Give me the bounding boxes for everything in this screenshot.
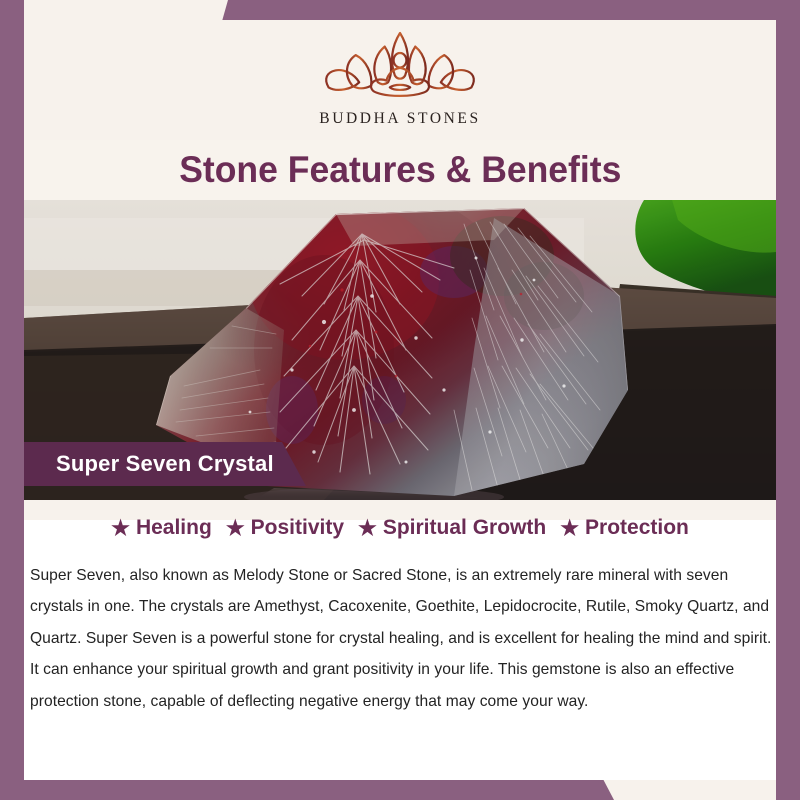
brand-name: BUDDHA STONES bbox=[319, 110, 480, 128]
benefit-item-spiritual-growth: ★ Spiritual Growth bbox=[351, 516, 553, 540]
title-strip: Stone Features & Benefits bbox=[24, 140, 776, 200]
star-icon: ★ bbox=[560, 518, 579, 539]
brand-header: BUDDHA STONES bbox=[24, 20, 776, 140]
content-card: BUDDHA STONES Stone Features & Benefits bbox=[24, 20, 776, 780]
benefit-label: Protection bbox=[585, 516, 689, 540]
benefit-item-positivity: ★ Positivity bbox=[219, 516, 351, 540]
infographic-page: BUDDHA STONES Stone Features & Benefits bbox=[0, 0, 800, 800]
benefit-label: Healing bbox=[136, 516, 212, 540]
lotus-meditation-logo-icon bbox=[315, 26, 485, 108]
description-paragraph: Super Seven, also known as Melody Stone … bbox=[30, 560, 772, 717]
benefit-item-protection: ★ Protection bbox=[553, 516, 696, 540]
photo-caption-text: Super Seven Crystal bbox=[24, 451, 274, 477]
benefit-item-healing: ★ Healing bbox=[104, 516, 219, 540]
star-icon: ★ bbox=[226, 518, 245, 539]
benefit-label: Spiritual Growth bbox=[383, 516, 546, 540]
benefit-label: Positivity bbox=[251, 516, 344, 540]
benefits-row: ★ Healing ★ Positivity ★ Spiritual Growt… bbox=[24, 516, 776, 540]
star-icon: ★ bbox=[358, 518, 377, 539]
page-title: Stone Features & Benefits bbox=[179, 149, 621, 191]
star-icon: ★ bbox=[111, 518, 130, 539]
frame-band-right bbox=[776, 0, 800, 800]
super-seven-crystal-photo: Super Seven Crystal bbox=[24, 200, 776, 500]
photo-caption-banner: Super Seven Crystal bbox=[24, 442, 314, 486]
frame-band-left bbox=[0, 0, 24, 800]
